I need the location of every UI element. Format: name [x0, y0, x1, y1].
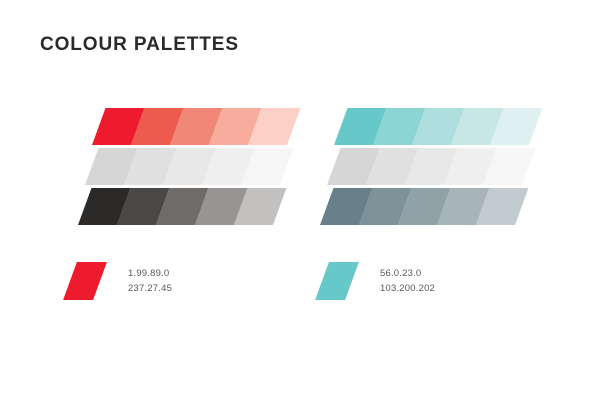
palette-rows	[78, 108, 288, 226]
palette-row-accent-tints-row	[92, 108, 287, 145]
palette-row-light-neutral-row	[85, 148, 280, 185]
legend-values: 1.99.89.0 237.27.45	[128, 266, 172, 296]
page-title: COLOUR PALETTES	[40, 34, 239, 56]
palette-group-red	[78, 108, 288, 226]
palette-row-light-neutral-row	[327, 148, 522, 185]
palette-rows	[320, 108, 530, 226]
legend-cmyk-value: 56.0.23.0	[380, 266, 435, 281]
legend-rgb-value: 237.27.45	[128, 281, 172, 296]
legend-red: 1.99.89.0 237.27.45	[70, 262, 172, 300]
colour-palettes-page: COLOUR PALETTES 1.99.89.0 237.27.45 56.0…	[0, 0, 600, 400]
legend-swatch	[63, 262, 107, 300]
palette-row-dark-neutral-row	[320, 188, 515, 225]
legend-values: 56.0.23.0 103.200.202	[380, 266, 435, 296]
legend-rgb-value: 103.200.202	[380, 281, 435, 296]
legend-cmyk-value: 1.99.89.0	[128, 266, 172, 281]
legend-swatch	[315, 262, 359, 300]
palette-row-accent-tints-row	[334, 108, 529, 145]
legend-teal: 56.0.23.0 103.200.202	[322, 262, 435, 300]
palette-row-dark-neutral-row	[78, 188, 273, 225]
palette-group-teal	[320, 108, 530, 226]
